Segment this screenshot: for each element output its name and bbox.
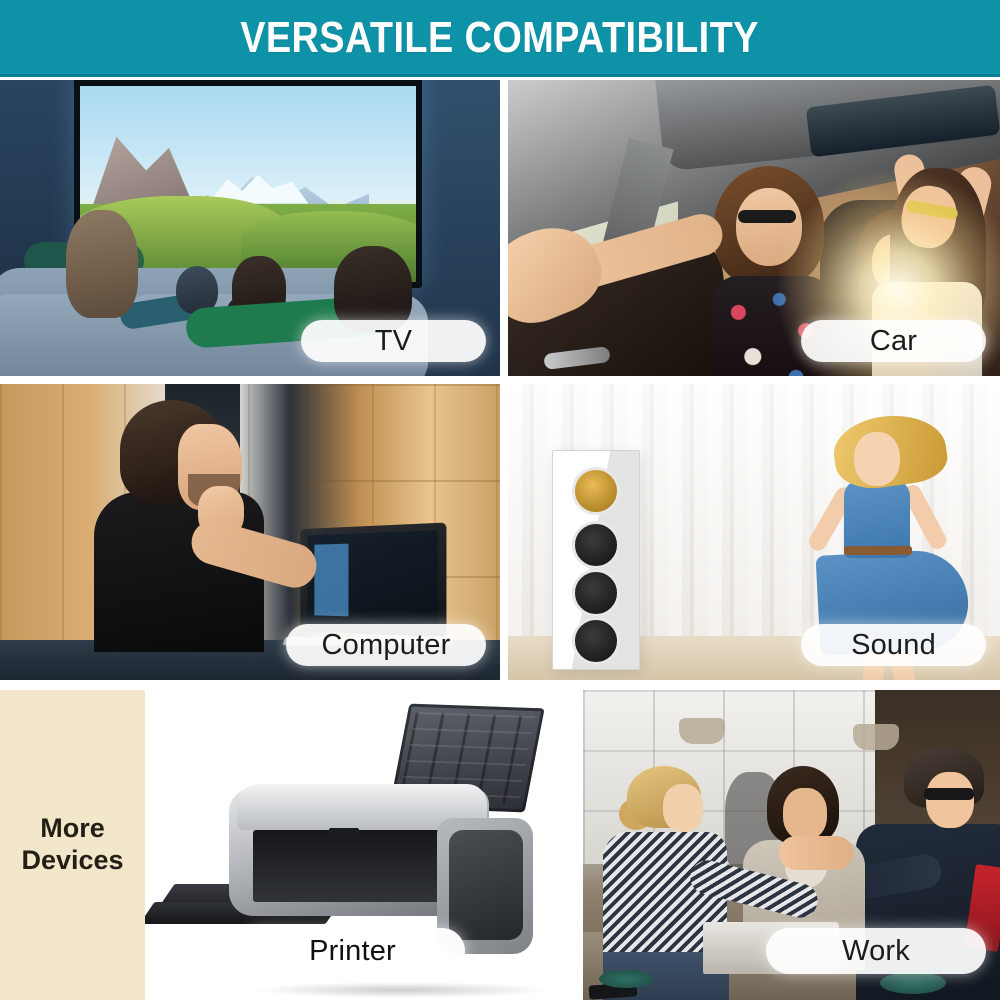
face xyxy=(663,784,703,832)
more-devices-block: More Devices xyxy=(0,690,145,1000)
header-divider xyxy=(0,74,1000,77)
handshake xyxy=(779,836,853,870)
printer-side-panel xyxy=(449,830,523,940)
face xyxy=(783,788,827,840)
face xyxy=(854,432,900,486)
coffee-cup xyxy=(599,970,653,988)
speaker-driver xyxy=(572,569,620,617)
panel-car[interactable]: Car xyxy=(508,80,1000,376)
panel-label-tv: TV xyxy=(301,320,486,362)
eyeglasses-icon xyxy=(924,788,974,800)
header-banner: VERSATILE COMPATIBILITY xyxy=(0,0,1000,76)
panel-label-computer: Computer xyxy=(286,624,486,666)
panel-work[interactable]: Work xyxy=(583,690,1000,1000)
coffee-cup xyxy=(880,972,946,994)
person-at-laptop xyxy=(72,400,312,650)
tower-speaker xyxy=(552,450,640,670)
infographic-page: VERSATILE COMPATIBILITY xyxy=(0,0,1000,1000)
more-devices-text: More Devices xyxy=(21,813,123,877)
speaker-tweeter xyxy=(572,467,620,515)
panel-printer[interactable]: Printer xyxy=(145,690,583,1000)
laptop-lid xyxy=(300,523,446,638)
screen-code-lines xyxy=(314,541,420,618)
face xyxy=(926,772,974,828)
more-devices-line2: Devices xyxy=(21,845,123,877)
page-title: VERSATILE COMPATIBILITY xyxy=(241,13,760,63)
printer-shadow xyxy=(251,982,551,998)
panel-label-sound: Sound xyxy=(801,624,986,666)
brown-belt xyxy=(844,546,912,555)
speaker-driver xyxy=(572,521,620,569)
panel-label-work: Work xyxy=(766,928,986,974)
panel-label-printer: Printer xyxy=(240,928,465,974)
panel-label-car: Car xyxy=(801,320,986,362)
panel-sound[interactable]: Sound xyxy=(508,384,1000,680)
printer-front-slot xyxy=(253,830,453,902)
laptop-screen xyxy=(307,530,437,629)
printer-brand-badge xyxy=(329,828,359,840)
panel-computer[interactable]: Computer xyxy=(0,384,500,680)
person-mother-head xyxy=(66,210,138,318)
panel-tv[interactable]: TV xyxy=(0,80,500,376)
speaker-driver xyxy=(572,617,620,665)
more-devices-line1: More xyxy=(21,813,123,845)
